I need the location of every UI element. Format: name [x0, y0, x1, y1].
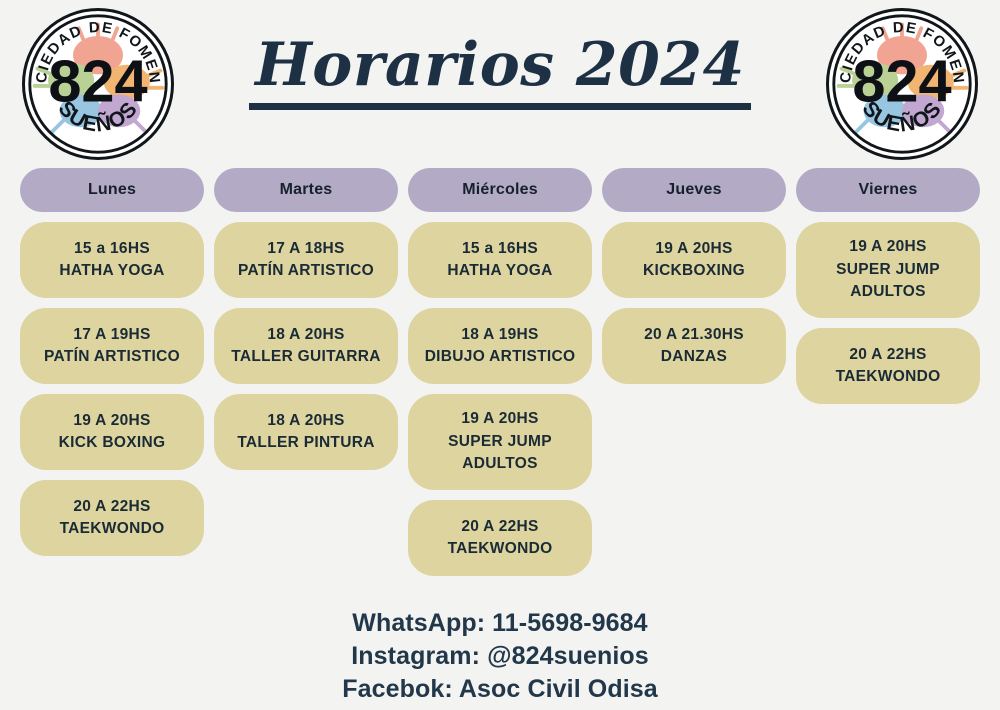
class-slot[interactable]: 20 A 22HSTAEKWONDO — [408, 500, 592, 576]
day-column-viernes: Viernes19 A 20HSSUPER JUMPADULTOS20 A 22… — [796, 168, 980, 576]
slot-time: 18 A 20HS — [267, 324, 344, 346]
slot-activity: TAEKWONDO — [448, 538, 553, 560]
slot-time: 19 A 20HS — [461, 408, 538, 430]
slot-time: 18 A 19HS — [461, 324, 538, 346]
slot-activity-detail: ADULTOS — [850, 281, 926, 303]
schedule-columns: Lunes15 a 16HSHATHA YOGA17 A 19HSPATÍN A… — [20, 168, 980, 576]
day-header[interactable]: Jueves — [602, 168, 786, 212]
class-slot[interactable]: 19 A 20HSKICKBOXING — [602, 222, 786, 298]
slot-activity: HATHA YOGA — [447, 260, 552, 282]
page-header: SOCIEDAD DE FOMENTO SUEÑOS 824 Horarios … — [0, 0, 1000, 168]
slot-activity: SUPER JUMP — [448, 431, 552, 453]
slot-activity: SUPER JUMP — [836, 259, 940, 281]
contact-facebook: Facebok: Asoc Civil Odisa — [0, 673, 1000, 706]
class-slot[interactable]: 19 A 20HSKICK BOXING — [20, 394, 204, 470]
class-slot[interactable]: 18 A 19HSDIBUJO ARTISTICO — [408, 308, 592, 384]
day-header[interactable]: Martes — [214, 168, 398, 212]
class-slot[interactable]: 18 A 20HSTALLER GUITARRA — [214, 308, 398, 384]
schedule-board: Lunes15 a 16HSHATHA YOGA17 A 19HSPATÍN A… — [0, 168, 1000, 576]
contact-whatsapp: WhatsApp: 11-5698-9684 — [0, 607, 1000, 640]
slot-activity: PATÍN ARTISTICO — [238, 260, 374, 282]
slot-time: 15 a 16HS — [74, 238, 150, 260]
slot-time: 20 A 22HS — [73, 496, 150, 518]
slot-activity: TALLER PINTURA — [237, 432, 374, 454]
slot-activity: DIBUJO ARTISTICO — [425, 346, 576, 368]
slot-activity: TAEKWONDO — [60, 518, 165, 540]
class-slot[interactable]: 19 A 20HSSUPER JUMPADULTOS — [796, 222, 980, 318]
day-header[interactable]: Miércoles — [408, 168, 592, 212]
class-slot[interactable]: 19 A 20HSSUPER JUMPADULTOS — [408, 394, 592, 490]
slot-activity: TAEKWONDO — [836, 366, 941, 388]
class-slot[interactable]: 20 A 22HSTAEKWONDO — [796, 328, 980, 404]
logo-right-artwork: SOCIEDAD DE FOMENTO SUEÑOS 824 — [829, 11, 975, 157]
slot-time: 18 A 20HS — [267, 410, 344, 432]
slot-time: 19 A 20HS — [849, 236, 926, 258]
slot-time: 17 A 18HS — [267, 238, 344, 260]
slot-activity: KICK BOXING — [59, 432, 166, 454]
slot-activity: DANZAS — [661, 346, 727, 368]
slot-activity-detail: ADULTOS — [462, 453, 538, 475]
class-slot[interactable]: 20 A 22HSTAEKWONDO — [20, 480, 204, 556]
day-column-martes: Martes17 A 18HSPATÍN ARTISTICO18 A 20HST… — [214, 168, 398, 556]
slot-time: 20 A 21.30HS — [644, 324, 744, 346]
day-header[interactable]: Lunes — [20, 168, 204, 212]
slot-time: 20 A 22HS — [849, 344, 926, 366]
day-column-lunes: Lunes15 a 16HSHATHA YOGA17 A 19HSPATÍN A… — [20, 168, 204, 556]
slot-activity: PATÍN ARTISTICO — [44, 346, 180, 368]
day-header[interactable]: Viernes — [796, 168, 980, 212]
slot-time: 17 A 19HS — [73, 324, 150, 346]
slot-time: 15 a 16HS — [462, 238, 538, 260]
page-title: Horarios 2024 — [249, 34, 751, 110]
logo-right-number: 824 — [852, 47, 951, 114]
slot-activity: KICKBOXING — [643, 260, 745, 282]
class-slot[interactable]: 17 A 19HSPATÍN ARTISTICO — [20, 308, 204, 384]
contact-instagram: Instagram: @824suenios — [0, 640, 1000, 673]
slot-activity: TALLER GUITARRA — [231, 346, 380, 368]
contact-footer: WhatsApp: 11-5698-9684 Instagram: @824su… — [0, 607, 1000, 706]
logo-right: SOCIEDAD DE FOMENTO SUEÑOS 824 — [826, 8, 978, 160]
day-column-jueves: Jueves19 A 20HSKICKBOXING20 A 21.30HSDAN… — [602, 168, 786, 556]
slot-time: 19 A 20HS — [73, 410, 150, 432]
class-slot[interactable]: 15 a 16HSHATHA YOGA — [408, 222, 592, 298]
class-slot[interactable]: 18 A 20HSTALLER PINTURA — [214, 394, 398, 470]
slot-time: 19 A 20HS — [655, 238, 732, 260]
slot-activity: HATHA YOGA — [59, 260, 164, 282]
class-slot[interactable]: 20 A 21.30HSDANZAS — [602, 308, 786, 384]
824-suenos-badge-icon: SOCIEDAD DE FOMENTO SUEÑOS 824 — [829, 11, 975, 157]
day-column-miercoles: Miércoles15 a 16HSHATHA YOGA18 A 19HSDIB… — [408, 168, 592, 576]
class-slot[interactable]: 15 a 16HSHATHA YOGA — [20, 222, 204, 298]
slot-time: 20 A 22HS — [461, 516, 538, 538]
class-slot[interactable]: 17 A 18HSPATÍN ARTISTICO — [214, 222, 398, 298]
